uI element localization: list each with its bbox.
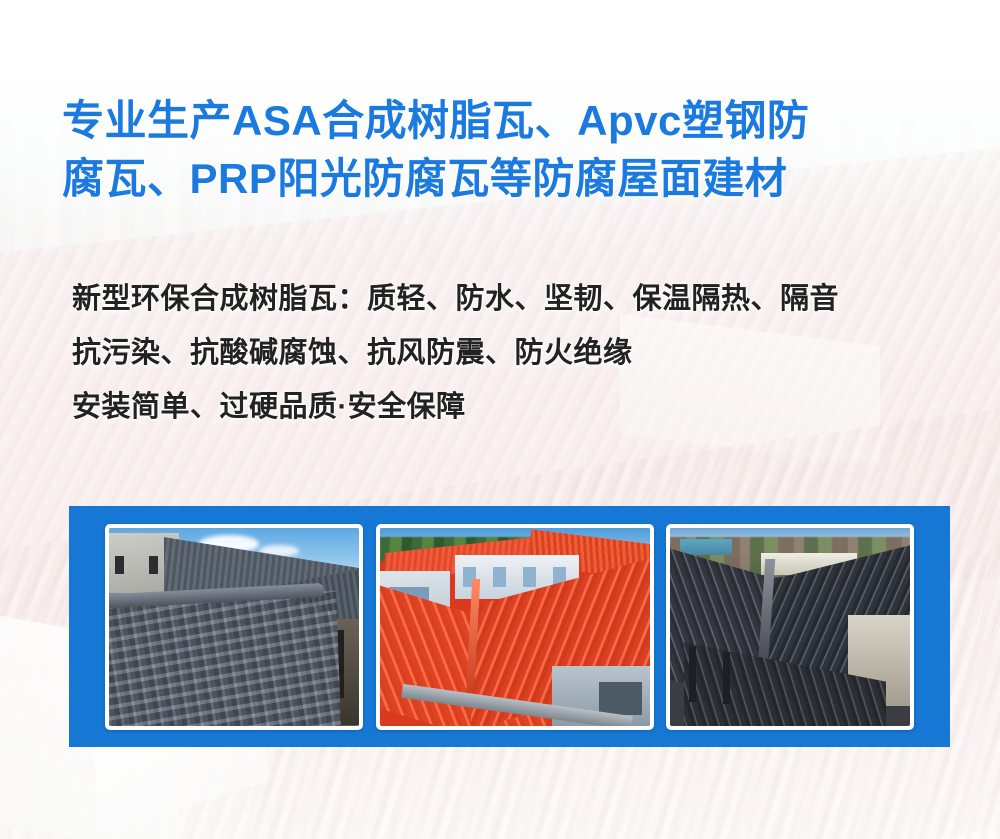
subtitle-block: 新型环保合成树脂瓦：质轻、防水、坚韧、保温隔热、隔音 抗污染、抗酸碱腐蚀、抗风防… bbox=[72, 272, 962, 434]
subtitle-line-2: 抗污染、抗酸碱腐蚀、抗风防震、防火绝缘 bbox=[72, 326, 962, 380]
support-pillar bbox=[689, 646, 696, 701]
photo-frame-red-roof[interactable] bbox=[376, 524, 654, 730]
product-photo-gallery bbox=[69, 506, 950, 747]
photo-frame-dark-roof[interactable] bbox=[666, 524, 914, 730]
headline-line-1: 专业生产ASA合成树脂瓦、Apvc塑钢防 bbox=[62, 92, 952, 150]
photo-grey-resin-tile-roof bbox=[109, 528, 359, 726]
subtitle-line-1: 新型环保合成树脂瓦：质轻、防水、坚韧、保温隔热、隔音 bbox=[72, 272, 962, 326]
headline-line-2: 腐瓦、PRP阳光防腐瓦等防腐屋面建材 bbox=[62, 150, 952, 208]
main-grey-tile-roof bbox=[109, 590, 342, 725]
photo-dark-resin-tile-roof bbox=[670, 528, 910, 726]
subtitle-line-3: 安装简单、过硬品质·安全保障 bbox=[72, 380, 962, 434]
support-pillar bbox=[723, 652, 730, 703]
photo-red-resin-tile-roof bbox=[380, 528, 650, 726]
photo-frame-grey-roof[interactable] bbox=[105, 524, 363, 730]
headline: 专业生产ASA合成树脂瓦、Apvc塑钢防 腐瓦、PRP阳光防腐瓦等防腐屋面建材 bbox=[62, 92, 952, 208]
promo-banner-page: 专业生产ASA合成树脂瓦、Apvc塑钢防 腐瓦、PRP阳光防腐瓦等防腐屋面建材 … bbox=[0, 0, 1000, 839]
